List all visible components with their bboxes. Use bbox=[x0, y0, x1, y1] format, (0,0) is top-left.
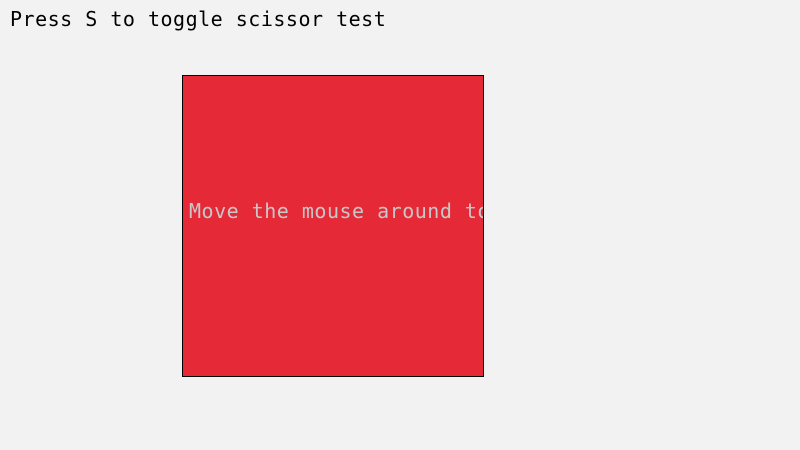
scissor-region[interactable]: Move the mouse around to reveal this tex… bbox=[182, 75, 484, 377]
scissor-clipped-message: Move the mouse around to reveal this tex… bbox=[189, 200, 484, 222]
app-window: Press S to toggle scissor test Move the … bbox=[0, 0, 800, 450]
scissor-toggle-hint: Press S to toggle scissor test bbox=[10, 8, 386, 30]
